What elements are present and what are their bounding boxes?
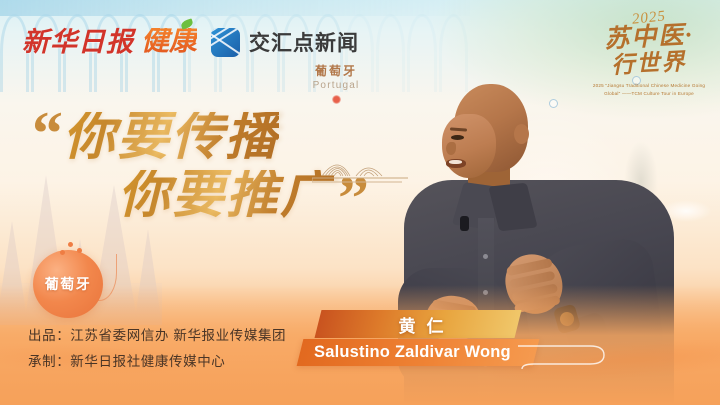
quote-line-1: 你要传播 bbox=[63, 112, 279, 164]
guest-name-cn: 黄仁 bbox=[356, 311, 486, 337]
location-label: 葡萄牙 Portugal bbox=[301, 62, 371, 104]
location-badge: 葡萄牙 bbox=[33, 250, 103, 318]
credits-block: 出品：江苏省委网信办 新华报业传媒集团 承制：新华日报社健康传媒中心 bbox=[28, 323, 286, 376]
campaign-english-caption: 2025 "Jiangsu Traditional Chinese Medici… bbox=[590, 82, 708, 96]
health-logo-text: 健康 bbox=[141, 28, 197, 56]
jiaohuidian-news-label: 交汇点新闻 bbox=[249, 27, 359, 57]
lapel-microphone bbox=[460, 216, 469, 231]
location-label-en: Portugal bbox=[301, 80, 371, 91]
video-frame: 新华日报 健康 交汇点新闻 2025 苏中医· 行世界 2025 "Jiangs… bbox=[0, 0, 720, 405]
xinhua-daily-logo-text: 新华日报 bbox=[22, 29, 134, 56]
blossom-decoration-icon bbox=[60, 242, 84, 258]
quote-close-mark: ” bbox=[338, 177, 369, 222]
quote-open-mark: “ bbox=[32, 112, 63, 157]
banner-swirl-decoration bbox=[516, 338, 616, 372]
publisher-logo-row[interactable]: 新华日报 健康 交汇点新闻 bbox=[22, 27, 359, 57]
quote-line-2: 你要推广 bbox=[118, 170, 334, 222]
jiaohuidian-app-icon[interactable] bbox=[211, 28, 240, 57]
map-pin-dot-icon bbox=[332, 95, 341, 104]
campaign-title-line2: 行世界 bbox=[589, 49, 708, 79]
campaign-lockup: 2025 苏中医· 行世界 2025 "Jiangsu Traditional … bbox=[590, 10, 708, 97]
location-label-cn: 葡萄牙 bbox=[301, 62, 371, 79]
credit-producer: 出品：江苏省委网信办 新华报业传媒集团 bbox=[28, 323, 286, 349]
location-badge-label: 葡萄牙 bbox=[45, 274, 92, 294]
credit-executor: 承制：新华日报社健康传媒中心 bbox=[28, 349, 286, 375]
guest-name-en: Salustino Zaldivar Wong bbox=[314, 340, 534, 365]
mountain-line-art-icon bbox=[312, 146, 410, 184]
